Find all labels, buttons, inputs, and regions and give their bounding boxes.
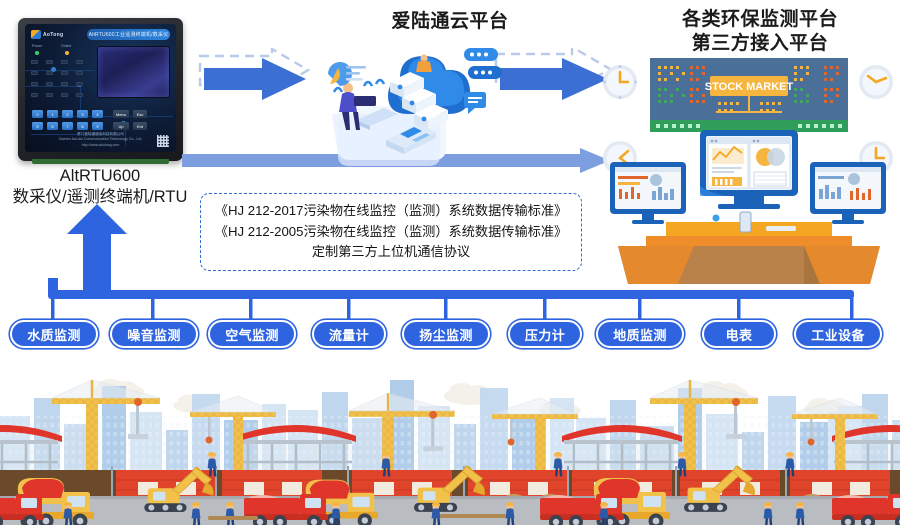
device-key-5[interactable]: 5: [32, 122, 43, 130]
sensor-pill-industrial[interactable]: 工业设备: [794, 320, 882, 348]
sensor-pill-air[interactable]: 空气监测: [208, 320, 296, 348]
protocol-line-3: 定制第三方上位机通信协议: [312, 242, 470, 263]
cloud-platform-title: 爱陆通云平台: [300, 10, 600, 34]
device-brand-logo: AoTong: [31, 29, 83, 40]
left-monitor: [610, 162, 686, 224]
sensor-pill-electric-meter[interactable]: 电表: [702, 320, 776, 348]
device-key-1[interactable]: 1: [47, 110, 58, 118]
sensor-pill-noise[interactable]: 噪音监测: [110, 320, 198, 348]
device-key-menu[interactable]: Menu: [113, 110, 129, 118]
center-monitor: [700, 130, 798, 209]
sensor-pill-flow-meter[interactable]: 流量计: [312, 320, 386, 348]
sensor-pill-row: 水质监测 噪音监测 空气监测 流量计 扬尘监测 压力计 地质监测 电表 工业设备: [0, 320, 900, 356]
device-key-8[interactable]: 8: [77, 122, 88, 130]
arrow-device-to-cloud: [198, 48, 316, 110]
wall-clock-3: [859, 65, 893, 99]
right-monitor: [810, 162, 886, 224]
device-key-4[interactable]: 4: [92, 110, 103, 118]
device-key-3[interactable]: 3: [77, 110, 88, 118]
protocol-line-2: 《HJ 212-2005污染物在线监控（监测）系统数据传输标准》: [215, 222, 567, 243]
sensor-pill-geology[interactable]: 地质监测: [596, 320, 684, 348]
device-front-panel: AoTong AltRTU600工业遥测终端机/数采仪 Power Online…: [25, 24, 176, 152]
device-lcd-screen: [97, 46, 170, 98]
device-terminal-strip: [32, 159, 169, 164]
device-key-9[interactable]: 9: [92, 122, 103, 130]
device-key-0[interactable]: 0: [32, 110, 43, 118]
device-model-banner: AltRTU600工业遥测终端机/数采仪: [87, 29, 170, 40]
protocol-line-1: 《HJ 212-2017污染物在线监控（监测）系统数据传输标准》: [215, 201, 567, 222]
device-key-7[interactable]: 7: [62, 122, 73, 130]
construction-site-illustration: [0, 358, 900, 525]
device-website: http://www.ailulong.com: [31, 143, 170, 148]
device-model-name: AltRTU600: [0, 166, 200, 187]
sensor-pill-water-quality[interactable]: 水质监测: [10, 320, 98, 348]
platform-title-line1: 各类环保监测平台: [620, 8, 900, 32]
cloud-platform-illustration: [308, 44, 504, 178]
device-key-2[interactable]: 2: [62, 110, 73, 118]
brand-name-label: AoTong: [43, 32, 63, 38]
device-key-esc[interactable]: Esc: [133, 110, 147, 118]
device-key-up[interactable]: Up: [113, 122, 129, 130]
power-led-label: Power: [32, 44, 42, 48]
brand-mark-icon: [31, 30, 41, 39]
wall-clock-1: [603, 65, 637, 99]
device-key-enter[interactable]: Ent: [133, 122, 147, 130]
device-key-6[interactable]: 6: [47, 122, 58, 130]
device-footer-text: 厦门爱陆通通信科技有限公司 Xiamen AoLian Communicatio…: [31, 132, 170, 148]
device-caption: AltRTU600 数采仪/遥测终端机/RTU: [0, 166, 200, 209]
online-led-label: Online: [61, 44, 71, 48]
rtu-device-image: AoTong AltRTU600工业遥测终端机/数采仪 Power Online…: [18, 18, 183, 161]
environmental-platform-illustration: STOCK MARKET: [598, 46, 900, 286]
qr-code-icon: [157, 135, 169, 147]
sensor-pill-dust[interactable]: 扬尘监测: [402, 320, 490, 348]
stock-market-label: STOCK MARKET: [705, 81, 794, 93]
protocol-standards-box: 《HJ 212-2017污染物在线监控（监测）系统数据传输标准》 《HJ 212…: [200, 193, 582, 271]
sensor-pill-pressure[interactable]: 压力计: [508, 320, 582, 348]
